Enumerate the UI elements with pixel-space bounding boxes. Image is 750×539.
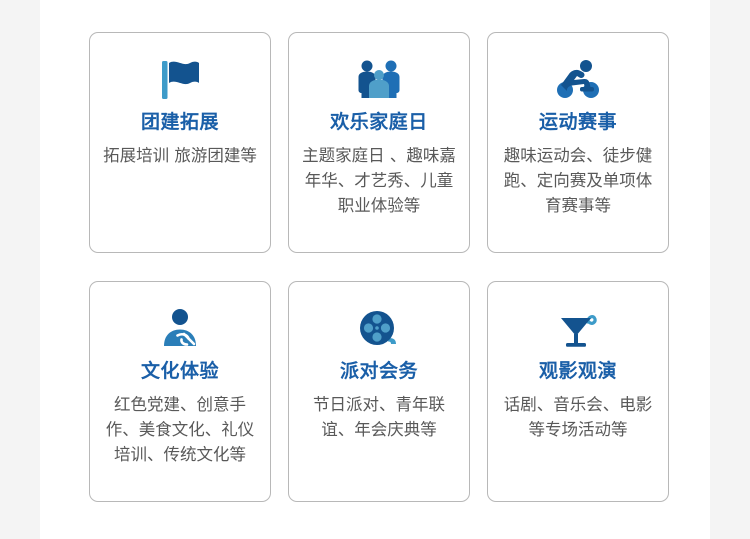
service-card-party-services[interactable]: 派对会务 节日派对、青年联谊、年会庆典等 xyxy=(288,281,470,502)
service-card-team-building[interactable]: 团建拓展 拓展培训 旅游团建等 xyxy=(89,32,271,253)
card-description: 趣味运动会、徒步健跑、定向赛及单项体育赛事等 xyxy=(498,143,658,218)
card-description: 拓展培训 旅游团建等 xyxy=(100,143,260,168)
card-description: 话剧、音乐会、电影等专场活动等 xyxy=(498,392,658,442)
family-icon xyxy=(355,51,403,109)
card-description: 红色党建、创意手作、美食文化、礼仪培训、传统文化等 xyxy=(100,392,260,467)
card-title: 运动赛事 xyxy=(539,111,617,134)
content-area: 团建拓展 拓展培训 旅游团建等 欢乐家庭日 主题家庭日 、趣味嘉年华、才 xyxy=(40,0,710,539)
service-card-sports-events[interactable]: 运动赛事 趣味运动会、徒步健跑、定向赛及单项体育赛事等 xyxy=(487,32,669,253)
service-card-shows-and-movies[interactable]: 观影观演 话剧、音乐会、电影等专场活动等 xyxy=(487,281,669,502)
service-card-family-day[interactable]: 欢乐家庭日 主题家庭日 、趣味嘉年华、才艺秀、儿童职业体验等 xyxy=(288,32,470,253)
card-title: 团建拓展 xyxy=(141,111,219,134)
service-card-culture-experience[interactable]: 文化体验 红色党建、创意手作、美食文化、礼仪培训、传统文化等 xyxy=(89,281,271,502)
card-title: 文化体验 xyxy=(141,360,219,383)
card-title: 派对会务 xyxy=(340,360,418,383)
cyclist-icon xyxy=(554,51,602,109)
page-background: 团建拓展 拓展培训 旅游团建等 欢乐家庭日 主题家庭日 、趣味嘉年华、才 xyxy=(0,0,750,539)
cocktail-glass-icon xyxy=(554,300,602,358)
party-emblem-person-icon xyxy=(156,300,204,358)
card-description: 节日派对、青年联谊、年会庆典等 xyxy=(299,392,459,442)
film-reel-icon xyxy=(355,300,403,358)
card-title: 欢乐家庭日 xyxy=(330,111,428,134)
card-description: 主题家庭日 、趣味嘉年华、才艺秀、儿童职业体验等 xyxy=(299,143,459,218)
card-title: 观影观演 xyxy=(539,360,617,383)
flag-icon xyxy=(156,51,204,109)
service-card-grid: 团建拓展 拓展培训 旅游团建等 欢乐家庭日 主题家庭日 、趣味嘉年华、才 xyxy=(89,32,669,502)
